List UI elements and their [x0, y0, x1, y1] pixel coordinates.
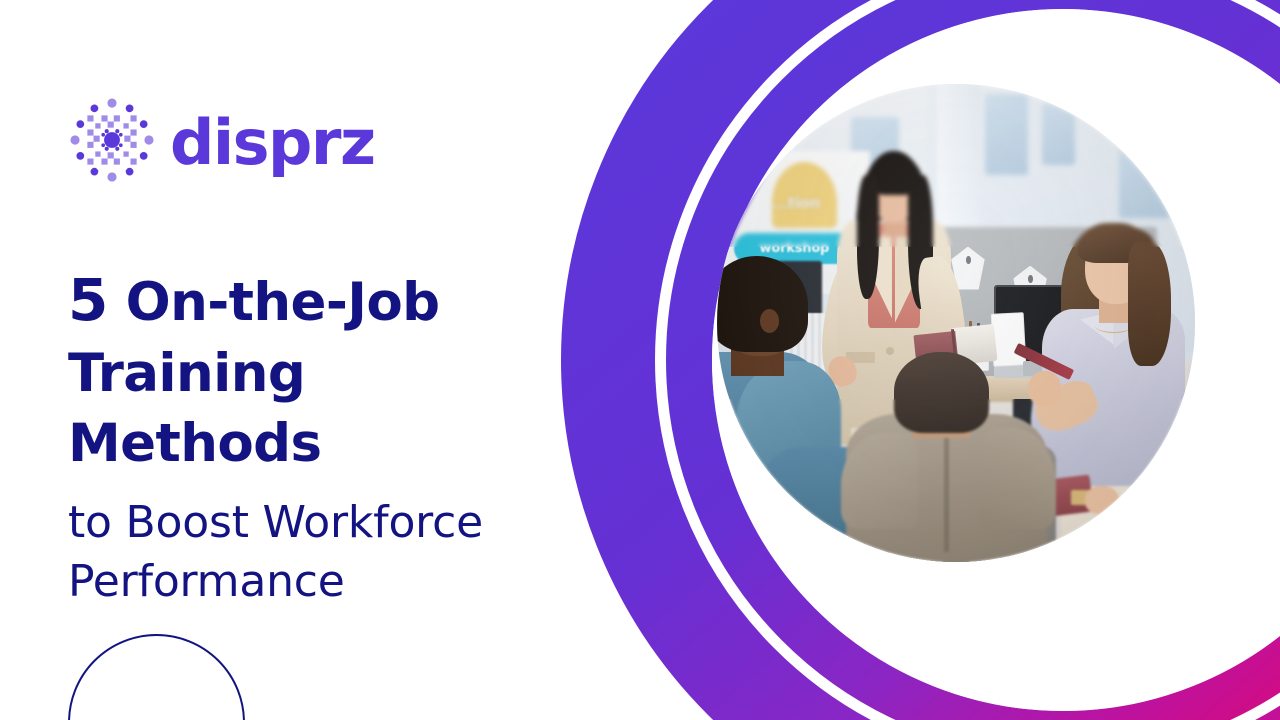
headline-line1: On-the-Job — [126, 272, 440, 333]
brand-wordmark: disprz — [170, 112, 375, 174]
hero-photo: ...tion workshop — [717, 84, 1195, 562]
participant-right-hand — [1028, 371, 1061, 407]
poster-heading-text: ...tion — [740, 194, 853, 212]
subtitle-line1: to Boost Workforce — [68, 497, 483, 548]
brand-logo[interactable]: disprz — [68, 96, 375, 184]
window-pane — [985, 94, 1028, 175]
office-training-scene: ...tion workshop — [717, 84, 1195, 562]
participant-right-second-hand — [1085, 486, 1118, 515]
headline-block: 5 On-the-Job Training Methods to Boost W… — [68, 262, 573, 611]
poster-pill-text: workshop — [760, 241, 830, 256]
window-pane — [1042, 103, 1075, 165]
page-subtitle: to Boost Workforce Performance — [68, 494, 573, 611]
page-title: 5 On-the-Job Training Methods — [68, 262, 573, 478]
participant-center-head-back — [894, 352, 990, 433]
window-pane — [1119, 132, 1172, 218]
left-content-column: disprz 5 On-the-Job Training Methods to … — [0, 0, 600, 720]
presenter-hair-left — [857, 175, 879, 299]
participant-left-ear — [760, 309, 779, 333]
presenter-blazer-button — [886, 347, 894, 355]
participant-center-blazer-seam — [944, 428, 949, 552]
slide-canvas: disprz 5 On-the-Job Training Methods to … — [0, 0, 1280, 720]
navy-outline-circle — [68, 634, 245, 720]
disprz-snowflake-logo-mark — [68, 96, 156, 184]
headline-number: 5 — [68, 266, 108, 334]
participant-right-hair-side — [1128, 242, 1171, 366]
subtitle-line2: Performance — [68, 556, 345, 607]
headline-line2: Training Methods — [68, 343, 321, 474]
